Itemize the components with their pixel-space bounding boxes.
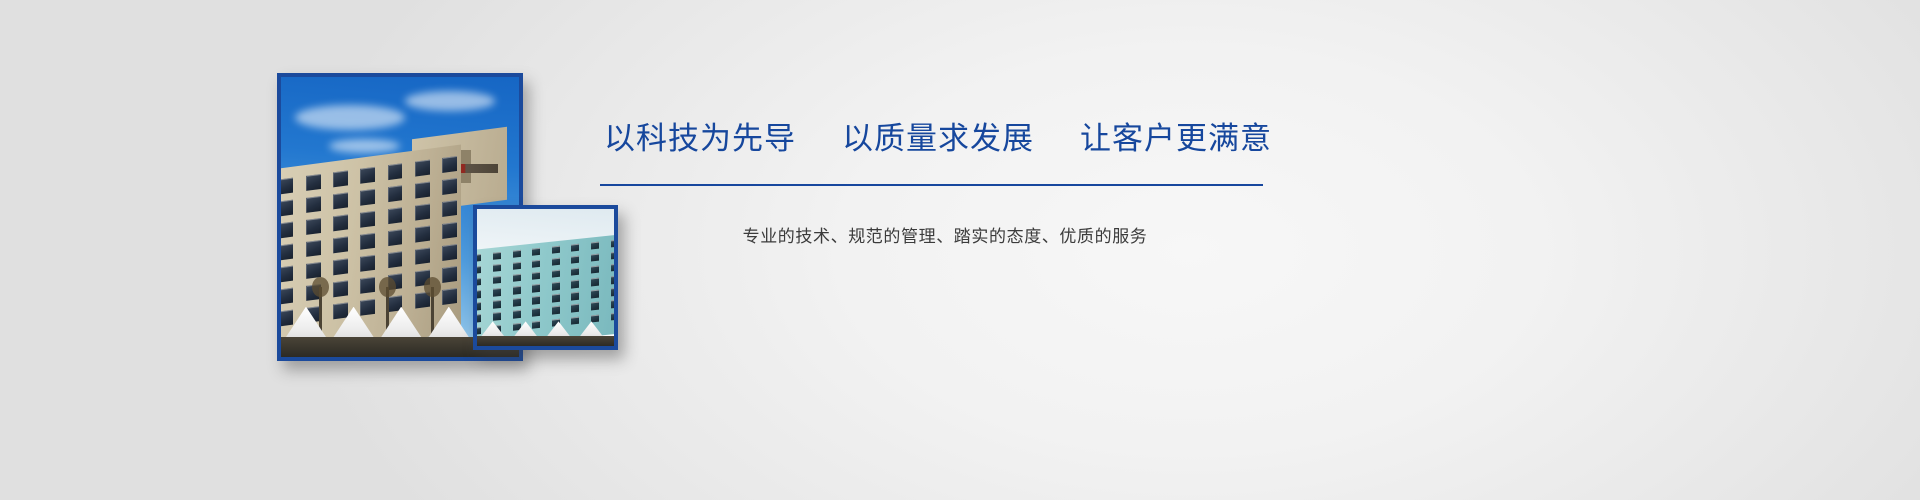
headline: 以科技为先导 以质量求发展 让客户更满意	[600, 120, 1300, 159]
photo-collage	[0, 0, 700, 500]
cloud-icon	[329, 139, 400, 153]
cloud-icon	[295, 105, 404, 130]
headline-phrase-2: 以质量求发展	[842, 120, 1034, 159]
photo-sub-scene	[477, 209, 614, 346]
headline-divider	[600, 184, 1263, 186]
ground	[477, 336, 614, 346]
cloud-icon	[405, 91, 495, 111]
headline-phrase-3: 让客户更满意	[1080, 120, 1272, 159]
building-signage	[457, 164, 497, 174]
subtitle: 专业的技术、规范的管理、踏实的态度、优质的服务	[600, 222, 1300, 247]
banner-text-block: 以科技为先导 以质量求发展 让客户更满意 专业的技术、规范的管理、踏实的态度、优…	[600, 120, 1300, 247]
photo-glass-building-exterior	[473, 205, 618, 350]
headline-phrase-1: 以科技为先导	[604, 120, 796, 159]
hero-banner: 以科技为先导 以质量求发展 让客户更满意 专业的技术、规范的管理、踏实的态度、优…	[0, 0, 1920, 500]
